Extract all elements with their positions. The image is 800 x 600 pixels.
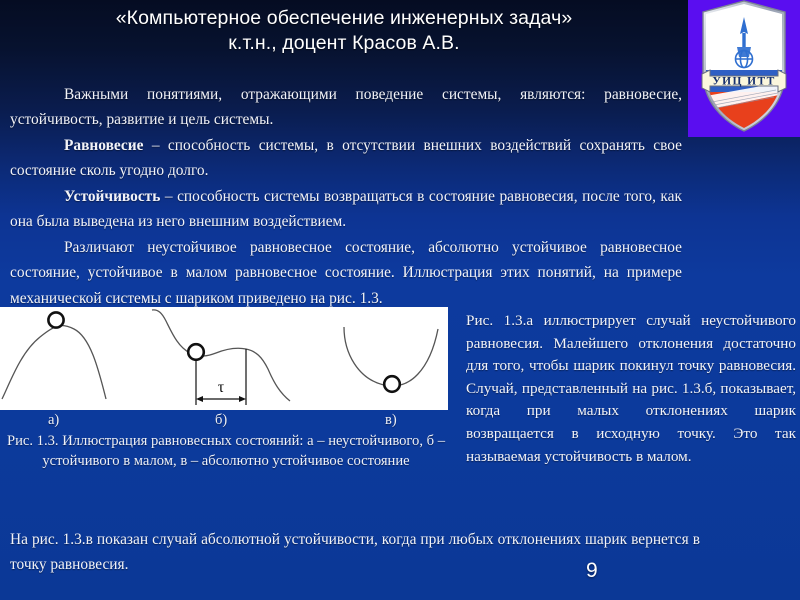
uic-itt-emblem-icon: УИЦ ИТТ <box>688 0 800 137</box>
ball-absolutely-stable <box>384 376 400 392</box>
paragraph-stability: Устойчивость – способность системы возвр… <box>10 184 682 235</box>
ball-unstable <box>48 312 63 327</box>
diagram-absolutely-stable <box>344 327 438 392</box>
paragraph-classification: Различают неустойчивое равновесное состо… <box>10 235 682 311</box>
figure-sublabel-v: в) <box>385 412 397 429</box>
right-column-text: Рис. 1.3.а иллюстрирует случай неустойчи… <box>466 310 796 468</box>
tau-label: τ <box>218 379 225 396</box>
tau-arrow-right <box>239 396 246 402</box>
tau-arrow-left <box>196 396 203 402</box>
figure-panel: τ <box>0 307 448 410</box>
term-stability: Устойчивость <box>64 188 160 205</box>
title-line-1: «Компьютерное обеспечение инженерных зад… <box>0 6 688 31</box>
figure-sublabel-a: а) <box>48 412 59 429</box>
ball-locally-stable <box>188 344 204 360</box>
paragraph-equilibrium: Равновесие – способность системы, в отсу… <box>10 133 682 184</box>
title-line-2: к.т.н., доцент Красов А.В. <box>0 31 688 56</box>
emblem-block: УИЦ ИТТ <box>688 0 800 137</box>
diagram-locally-stable: τ <box>152 310 290 405</box>
page-number: 9 <box>586 559 598 583</box>
diagram-unstable <box>2 312 106 399</box>
slide-title: «Компьютерное обеспечение инженерных зад… <box>0 6 688 56</box>
figure-caption: Рис. 1.3. Иллюстрация равновесных состоя… <box>6 432 446 471</box>
equilibrium-diagrams: τ <box>0 307 448 410</box>
presentation-slide: УИЦ ИТТ «Компьютерное обеспечение инжене… <box>0 0 800 600</box>
paragraph-definitions: Важными понятиями, отражающими поведение… <box>10 82 682 133</box>
emblem-banner-text: УИЦ ИТТ <box>712 76 775 88</box>
figure-sublabel-b: б) <box>215 412 227 429</box>
term-equilibrium: Равновесие <box>64 137 143 154</box>
